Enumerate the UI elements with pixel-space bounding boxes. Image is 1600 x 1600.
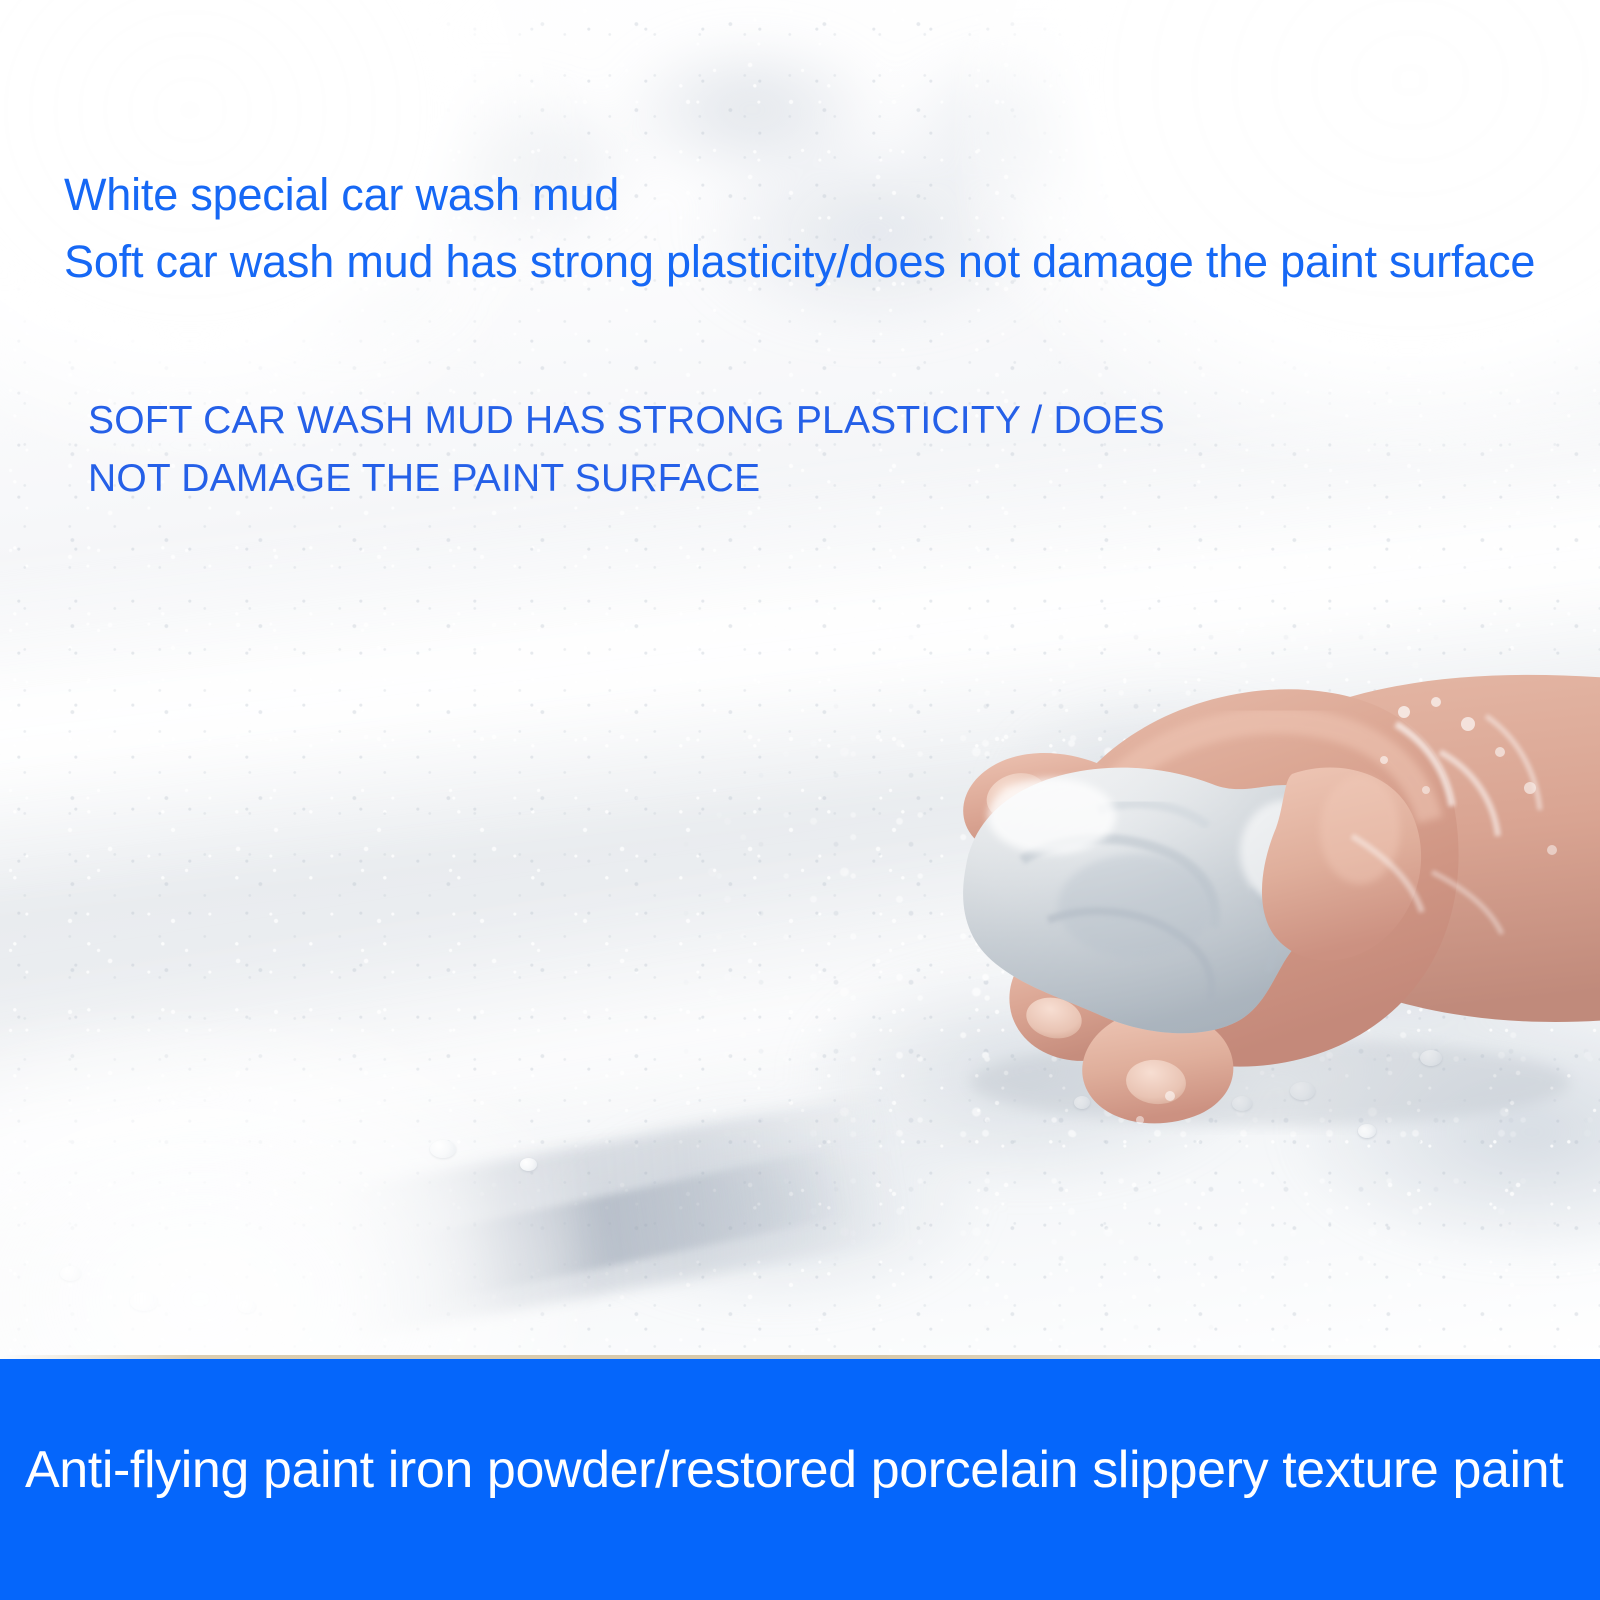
headline-line-1: White special car wash mud [64, 172, 1584, 217]
highlight-washout-bottom-left [0, 1019, 580, 1359]
caps-claim-block: SOFT CAR WASH MUD HAS STRONG PLASTICITY … [88, 392, 1188, 507]
headline-line-2: Soft car wash mud has strong plasticity/… [64, 239, 1584, 284]
clay-mottle [1058, 854, 1214, 958]
product-image-canvas: White special car wash mud Soft car wash… [0, 0, 1600, 1600]
caps-line-1: SOFT CAR WASH MUD HAS STRONG PLASTICITY … [88, 392, 1188, 450]
clay-highlight-top [988, 778, 1116, 854]
caps-line-2: NOT DAMAGE THE PAINT SURFACE [88, 450, 1188, 508]
hand-holding-clay-bar [840, 620, 1600, 1140]
banner-caption: Anti-flying paint iron powder/restored p… [25, 1444, 1585, 1496]
thumb-highlight [1320, 776, 1400, 884]
headline-block: White special car wash mud Soft car wash… [64, 172, 1584, 284]
